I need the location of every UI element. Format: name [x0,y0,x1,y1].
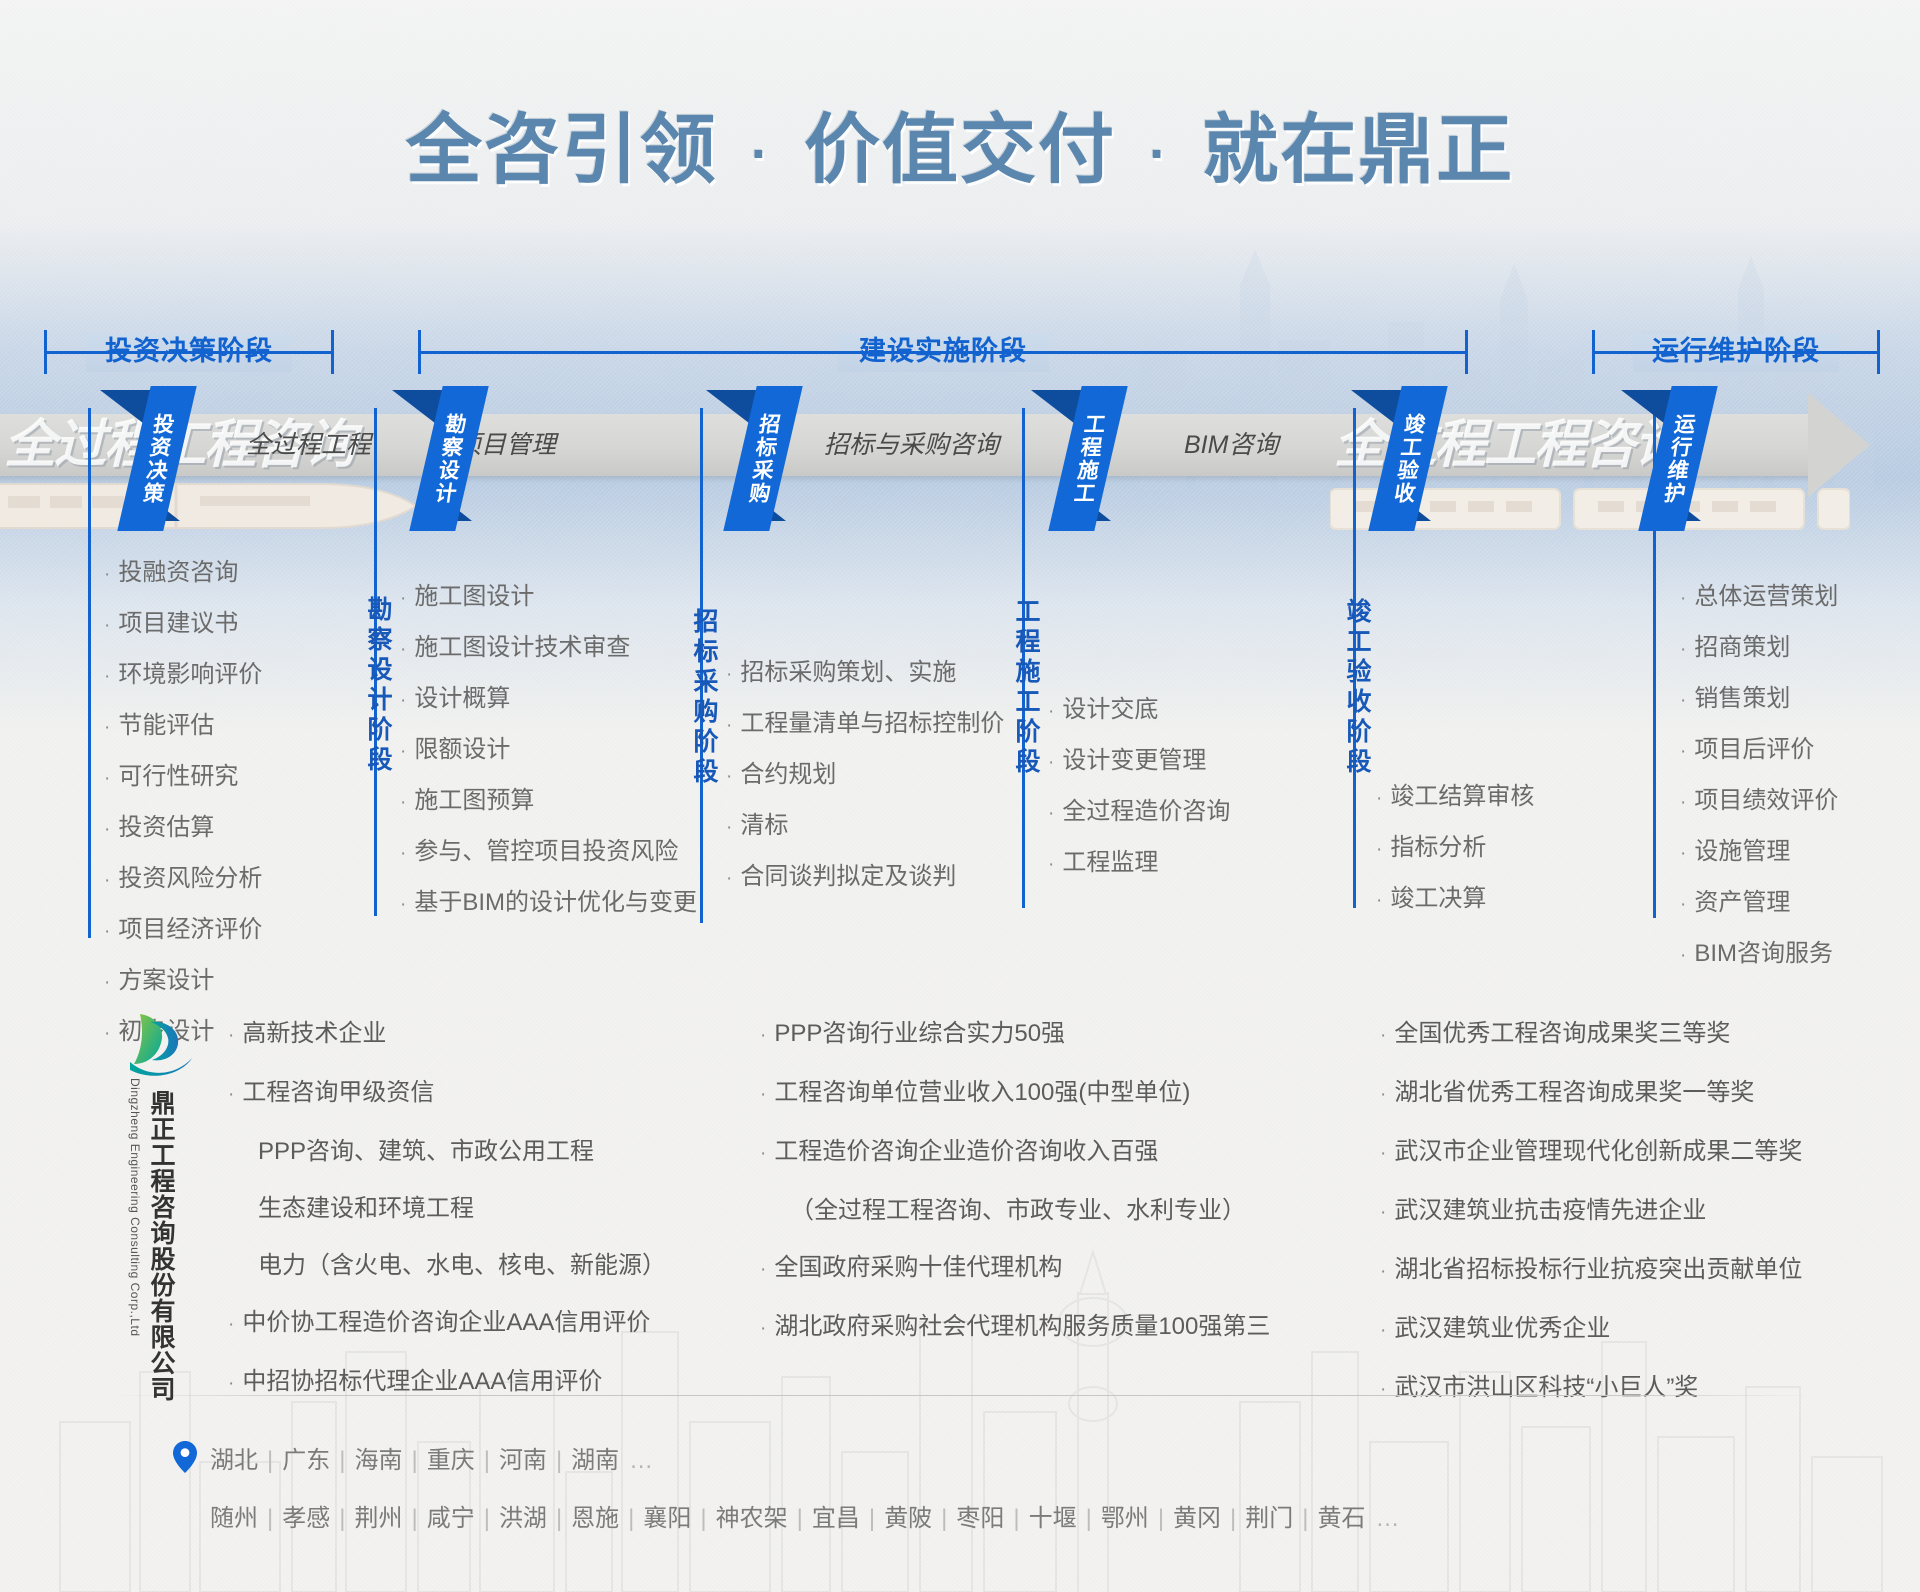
phase-label-construction: 建设实施阶段 [847,328,1039,374]
stage-list-survey: ·施工图设计·施工图设计技术审查·设计概算·限额设计·施工图预算·参与、管控项目… [400,572,697,929]
stage-list-item: ·招标采购策划、实施 [726,648,1004,699]
stage-list-item: ·项目建议书 [104,599,262,650]
stage-list-item: ·全过程造价咨询 [1048,787,1230,838]
logo-company-name-en: Dingzheng Engineering Consulting Corp.,L… [128,1078,142,1337]
location-separator: | [1221,1505,1245,1532]
ribbon-label: 竣工验收 [1386,413,1429,505]
location-name: 湖北 [210,1447,258,1474]
train-illustration [0,478,420,538]
location-name: 恩施 [571,1505,619,1532]
location-name: 襄阳 [643,1505,691,1532]
location-name: 孝感 [282,1505,330,1532]
logo-company-name: 鼎正工程咨询股份有限公司 [146,1090,176,1402]
credential-item: ·武汉建筑业抗击疫情先进企业 [1380,1182,1802,1241]
location-provinces-row: 湖北|广东|海南|重庆|河南|湖南… [210,1432,1400,1490]
band-label-bidding: 招标与采购咨询 [824,414,999,476]
location-name: 黄冈 [1173,1505,1221,1532]
ribbon-label: 运行维护 [1656,413,1699,505]
phase-bracket-investment: 投资决策阶段 [44,330,334,374]
stage-list-item: ·资产管理 [1680,878,1838,929]
location-name: 十堰 [1029,1505,1077,1532]
location-separator: | [860,1505,884,1532]
location-name: 海南 [354,1447,402,1474]
credential-item: ·武汉市洪山区科技“小巨人”奖 [1380,1359,1802,1418]
credentials-column-1: ·高新技术企业·工程咨询甲级资信PPP咨询、建筑、市政公用工程生态建设和环境工程… [228,1005,666,1412]
stage-list-item: ·施工图设计技术审查 [400,623,697,674]
locations-section: 湖北|广东|海南|重庆|河南|湖南… 随州|孝感|荆州|咸宁|洪湖|恩施|襄阳|… [210,1432,1400,1548]
credential-item: ·中价协工程造价咨询企业AAA信用评价 [228,1294,666,1353]
credential-item: ·武汉市企业管理现代化创新成果二等奖 [1380,1123,1802,1182]
credential-item: ·湖北政府采购社会代理机构服务质量100强第三 [760,1298,1270,1357]
location-separator: | [1077,1505,1101,1532]
band-arrow-tip [1808,393,1870,497]
location-separator: | [619,1505,643,1532]
credentials-column-2: ·PPP咨询行业综合实力50强·工程咨询单位营业收入100强(中型单位)·工程造… [760,1005,1270,1357]
credential-item: ·高新技术企业 [228,1005,666,1064]
stage-list-item: ·设计变更管理 [1048,736,1230,787]
location-separator: | [547,1505,571,1532]
credential-item: ·湖北省优秀工程咨询成果奖一等奖 [1380,1064,1802,1123]
stage-list-item: ·项目绩效评价 [1680,776,1838,827]
location-separator: | [402,1447,426,1474]
vtitle-survey-design: 勘察设计阶段 [364,596,392,776]
stage-list-item: ·设施管理 [1680,827,1838,878]
band-label-whole-process: 全过程工程 [246,414,371,476]
stage-list-item: ·基于BIM的设计优化与变更 [400,878,697,929]
stage-list-item: ·总体运营策划 [1680,572,1838,623]
location-separator: | [788,1505,812,1532]
stage-list-operation: ·总体运营策划·招商策划·销售策划·项目后评价·项目绩效评价·设施管理·资产管理… [1680,572,1838,980]
bracket-cap-left [1592,330,1595,374]
location-name: 神农架 [716,1505,788,1532]
stage-list-item: ·方案设计 [104,956,262,1007]
stage-list-investment: ·投融资咨询·项目建议书·环境影响评价·节能评估·可行性研究·投资估算·投资风险… [104,548,262,1058]
stage-list-completion: ·竣工结算审核·指标分析·竣工决算 [1376,772,1534,925]
location-separator: | [330,1505,354,1532]
credential-sub-item: （全过程工程咨询、市政专业、水利专业） [760,1182,1270,1239]
company-logo-icon [126,1012,198,1082]
location-name: 黄陂 [884,1505,932,1532]
stage-list-item: ·参与、管控项目投资风险 [400,827,697,878]
stage-list-item: ·工程监理 [1048,838,1230,889]
location-name: 广东 [282,1447,330,1474]
bracket-cap-left [418,330,421,374]
stage-list-item: ·BIM咨询服务 [1680,929,1838,980]
phase-bracket-construction: 建设实施阶段 [418,330,1468,374]
location-name: 重庆 [427,1447,475,1474]
band-label-bim: BIM咨询 [1184,414,1278,476]
stage-list-item: ·投资估算 [104,803,262,854]
title-part-1: 全咨引领 [406,108,718,193]
credential-item: ·PPP咨询行业综合实力50强 [760,1005,1270,1064]
location-name: 湖南 [571,1447,619,1474]
title-separator-1: · [741,124,781,184]
location-separator: | [1293,1505,1317,1532]
location-name: 随州 [210,1505,258,1532]
location-more: … [619,1447,653,1474]
stage-list-item: ·项目经济评价 [104,905,262,956]
credential-sub-item: 生态建设和环境工程 [228,1180,666,1237]
stage-list-construction: ·设计交底·设计变更管理·全过程造价咨询·工程监理 [1048,685,1230,889]
ribbon-label: 勘察设计 [427,413,470,505]
bracket-cap-right [1877,330,1880,374]
ribbon-label: 投资决策 [135,413,178,505]
location-name: 洪湖 [499,1505,547,1532]
stage-list-item: ·竣工决算 [1376,874,1534,925]
title-part-3: 就在鼎正 [1202,108,1514,193]
stage-list-item: ·投融资咨询 [104,548,262,599]
location-separator: | [932,1505,956,1532]
stage-list-item: ·节能评估 [104,701,262,752]
credential-item: ·全国优秀工程咨询成果奖三等奖 [1380,1005,1802,1064]
location-separator: | [402,1505,426,1532]
credential-sub-item: 电力（含火电、水电、核电、新能源） [228,1237,666,1294]
stage-list-item: ·销售策划 [1680,674,1838,725]
stage-list-item: ·合约规划 [726,750,1004,801]
stage-list-item: ·限额设计 [400,725,697,776]
location-separator: | [547,1447,571,1474]
location-separator: | [475,1447,499,1474]
title-separator-2: · [1139,124,1179,184]
bracket-cap-left [44,330,47,374]
location-separator: | [258,1505,282,1532]
location-separator: | [1149,1505,1173,1532]
location-pin-icon [172,1440,198,1474]
location-separator: | [475,1505,499,1532]
bracket-cap-right [1465,330,1468,374]
stage-list-item: ·施工图预算 [400,776,697,827]
location-name: 荆门 [1245,1505,1293,1532]
location-cities-row: 随州|孝感|荆州|咸宁|洪湖|恩施|襄阳|神农架|宜昌|黄陂|枣阳|十堰|鄂州|… [210,1490,1400,1548]
stage-list-item: ·施工图设计 [400,572,697,623]
location-more: … [1366,1505,1400,1532]
ribbon-label: 招标采购 [741,413,784,505]
stage-list-item: ·清标 [726,801,1004,852]
location-separator: | [691,1505,715,1532]
stage-list-item: ·设计概算 [400,674,697,725]
location-name: 枣阳 [956,1505,1004,1532]
stage-list-item: ·指标分析 [1376,823,1534,874]
title-part-2: 价值交付 [804,108,1116,193]
stage-list-item: ·投资风险分析 [104,854,262,905]
section-divider [112,1395,1812,1396]
stage-list-item: ·设计交底 [1048,685,1230,736]
ribbon-label: 工程施工 [1066,413,1109,505]
bracket-cap-right [331,330,334,374]
credential-item: ·全国政府采购十佳代理机构 [760,1239,1270,1298]
stage-list-item: ·项目后评价 [1680,725,1838,776]
stage-list-item: ·工程量清单与招标控制价 [726,699,1004,750]
stem-line-investment [88,408,91,938]
location-name: 鄂州 [1101,1505,1149,1532]
stage-list-item: ·合同谈判拟定及谈判 [726,852,1004,903]
location-separator: | [1004,1505,1028,1532]
phase-bracket-operation: 运行维护阶段 [1592,330,1880,374]
location-name: 宜昌 [812,1505,860,1532]
location-name: 荆州 [354,1505,402,1532]
credential-item: ·湖北省招标投标行业抗疫突出贡献单位 [1380,1241,1802,1300]
location-separator: | [258,1447,282,1474]
page-title: 全咨引领 · 价值交付 · 就在鼎正 [0,88,1920,198]
phase-label-investment: 投资决策阶段 [93,328,285,374]
vtitle-completion-acceptance: 竣工验收阶段 [1343,598,1371,778]
stage-list-item: ·招商策划 [1680,623,1838,674]
credential-item: ·工程造价咨询企业造价咨询收入百强 [760,1123,1270,1182]
credential-item: ·工程咨询单位营业收入100强(中型单位) [760,1064,1270,1123]
credential-sub-item: PPP咨询、建筑、市政公用工程 [228,1123,666,1180]
location-name: 咸宁 [427,1505,475,1532]
location-name: 黄石 [1318,1505,1366,1532]
stage-list-item: ·可行性研究 [104,752,262,803]
stage-list-item: ·环境影响评价 [104,650,262,701]
location-separator: | [330,1447,354,1474]
vtitle-construction: 工程施工阶段 [1012,598,1040,778]
stage-list-item: ·竣工结算审核 [1376,772,1534,823]
credential-item: ·武汉建筑业优秀企业 [1380,1300,1802,1359]
stage-list-bidding: ·招标采购策划、实施·工程量清单与招标控制价·合约规划·清标·合同谈判拟定及谈判 [726,648,1004,903]
location-name: 河南 [499,1447,547,1474]
credential-item: ·中招协招标代理企业AAA信用评价 [228,1353,666,1412]
process-arrow-band: 全过程工程咨询 全过程工程咨询 全过程工程 项目管理 招标与采购咨询 BIM咨询 [0,414,1872,476]
phase-label-operation: 运行维护阶段 [1640,328,1832,374]
credential-item: ·工程咨询甲级资信 [228,1064,666,1123]
credentials-column-3: ·全国优秀工程咨询成果奖三等奖·湖北省优秀工程咨询成果奖一等奖·武汉市企业管理现… [1380,1005,1802,1418]
